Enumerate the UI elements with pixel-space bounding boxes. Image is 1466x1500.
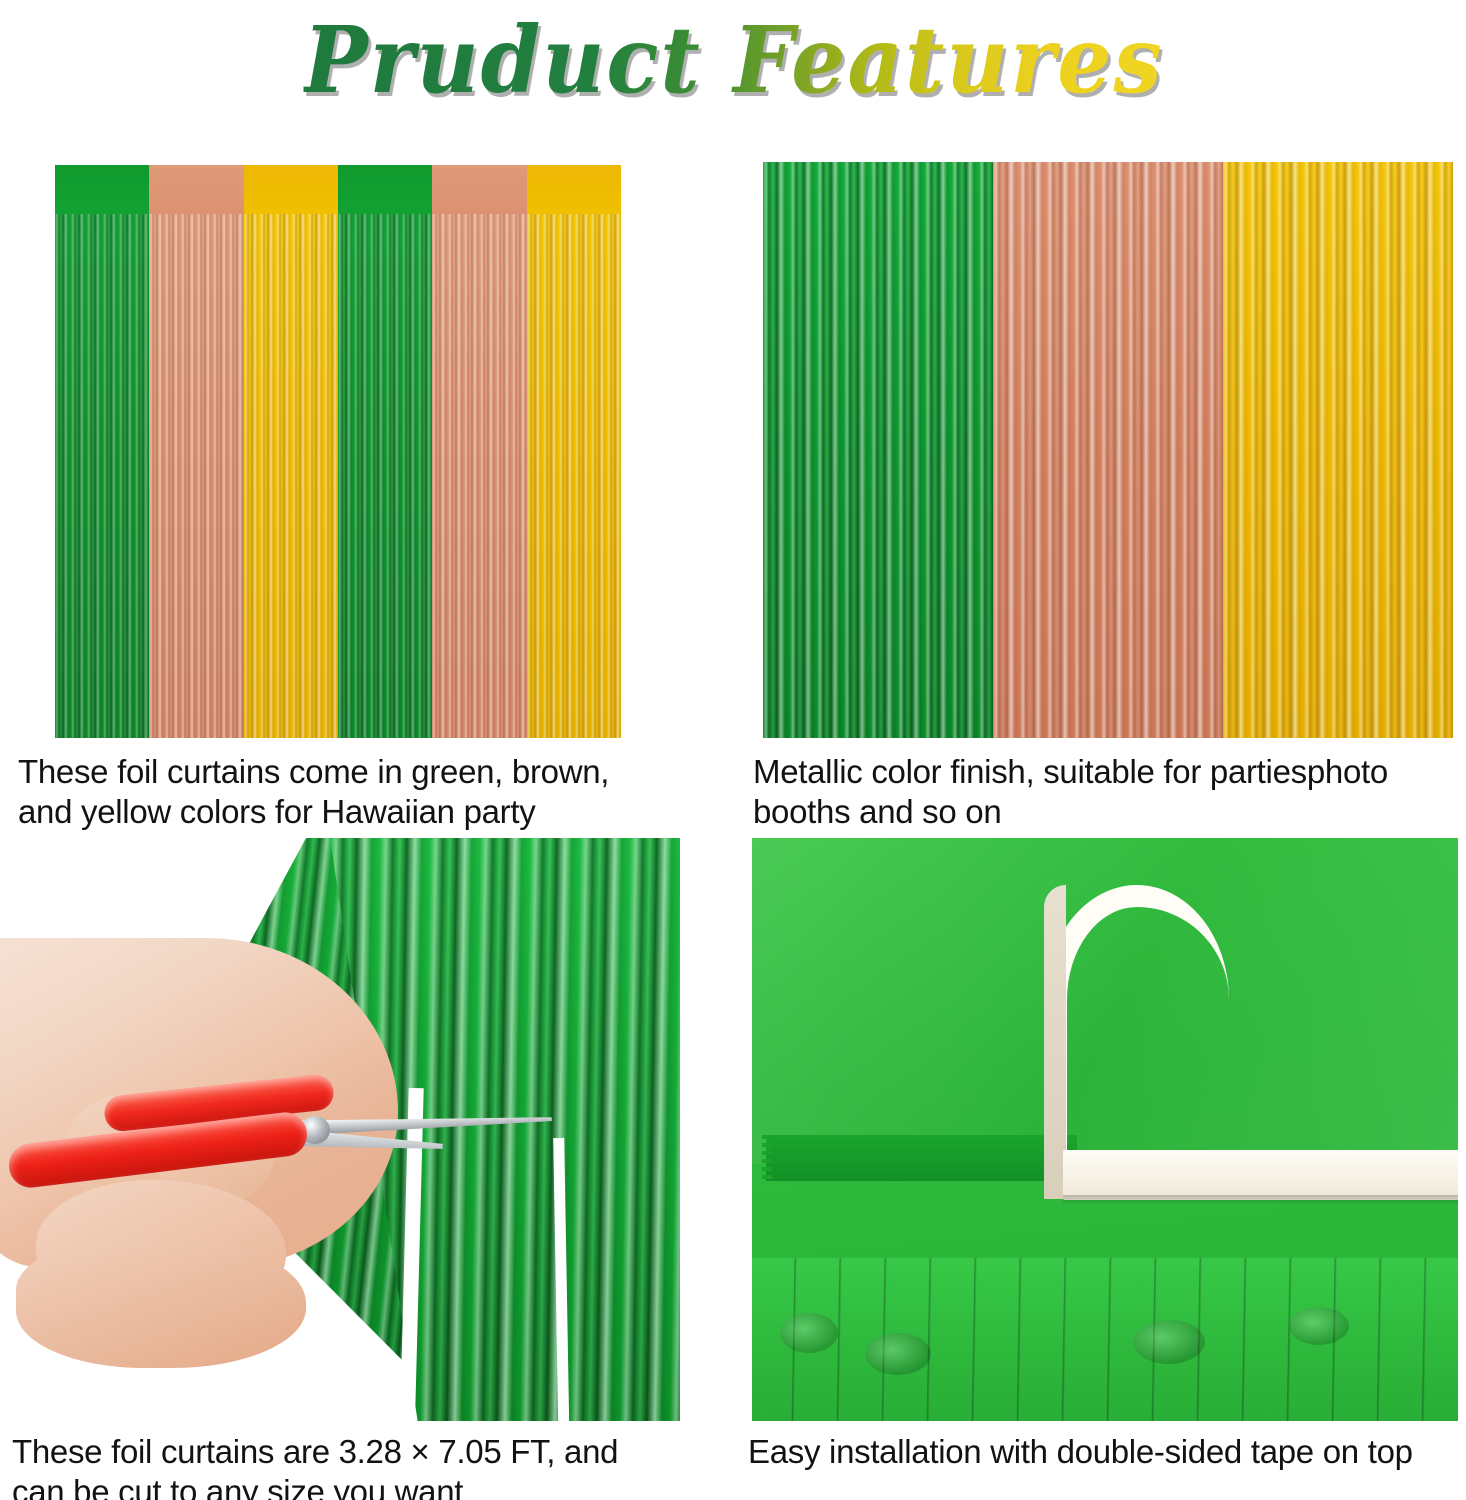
- six-panel-foil-curtain-photo: [55, 165, 621, 738]
- panel-fringe: [338, 214, 432, 738]
- panel-fringe: [432, 214, 526, 738]
- feature-card-metallic-finish: [763, 162, 1453, 738]
- panel-fringe: [244, 214, 338, 738]
- feature-card-easy-install: [752, 838, 1458, 1421]
- feature-caption-metallic-finish: Metallic color finish, suitable for part…: [753, 752, 1463, 833]
- curtain-panel-group: [763, 162, 1453, 738]
- feature-card-cut-to-size: [0, 838, 680, 1421]
- panel-header-band: [149, 165, 243, 214]
- tape-scene: [752, 838, 1458, 1421]
- double-sided-tape-photo: [752, 838, 1458, 1421]
- panel-header-band: [527, 165, 621, 214]
- scissors-scene: [0, 838, 680, 1421]
- curtain-panel-rose: [993, 162, 1223, 738]
- feature-card-colors: [55, 165, 621, 738]
- scissors-cutting-foil-photo: [0, 838, 680, 1421]
- curtain-panel-rose-1: [149, 165, 243, 738]
- foil-highlight: [865, 1333, 931, 1375]
- double-sided-tape-strip: [1063, 1150, 1458, 1200]
- three-panel-foil-curtain-photo: [763, 162, 1453, 738]
- tape-peeled-curl: [1045, 885, 1229, 1188]
- curtain-panel-green-1: [55, 165, 149, 738]
- panel-header-band: [432, 165, 526, 214]
- panel-fringe: [55, 214, 149, 738]
- curtain-panel-green-2: [338, 165, 432, 738]
- curtain-panel-yellow: [1223, 162, 1453, 738]
- feature-caption-easy-install: Easy installation with double-sided tape…: [748, 1432, 1463, 1472]
- curtain-panel-green: [763, 162, 993, 738]
- panel-fringe: [527, 214, 621, 738]
- curtain-panel-yellow-1: [244, 165, 338, 738]
- panel-header-band: [55, 165, 149, 214]
- foil-highlight: [1133, 1320, 1205, 1364]
- tape-backing-green: [766, 1135, 1077, 1180]
- product-features-infographic: Pruduct Features: [0, 0, 1466, 1500]
- page-title-container: Pruduct Features: [0, 4, 1466, 116]
- curtain-panel-rose-2: [432, 165, 526, 738]
- panel-header-band: [244, 165, 338, 214]
- finger: [16, 1238, 306, 1368]
- foil-fringe-bottom: [752, 1258, 1458, 1421]
- panel-header-band: [338, 165, 432, 214]
- curtain-panel-yellow-2: [527, 165, 621, 738]
- foil-highlight: [780, 1313, 838, 1353]
- foil-highlight: [1289, 1307, 1349, 1345]
- panel-fringe: [149, 214, 243, 738]
- page-title: Pruduct Features: [303, 14, 1163, 106]
- feature-caption-colors: These foil curtains come in green, brown…: [18, 752, 718, 833]
- curtain-panel-group: [55, 165, 621, 738]
- tape-drop-shadow: [1063, 1195, 1458, 1204]
- feature-caption-cut-to-size: These foil curtains are 3.28 × 7.05 FT, …: [12, 1432, 724, 1500]
